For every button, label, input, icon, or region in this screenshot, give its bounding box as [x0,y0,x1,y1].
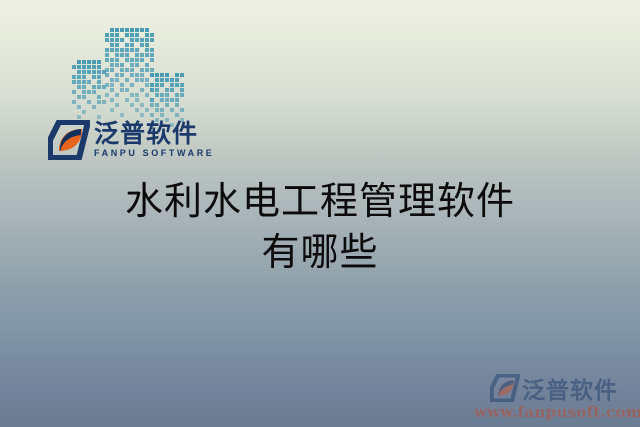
skyline-pixel [170,98,174,102]
skyline-pixel [110,58,114,62]
skyline-pixel [160,78,164,82]
skyline-pixel [87,60,91,64]
skyline-pixel [97,85,101,89]
skyline-pixel [145,63,149,67]
skyline-pixel [77,75,81,79]
skyline-pixel [125,28,129,32]
skyline-pixel [87,70,91,74]
skyline-pixel [110,83,114,87]
skyline-pixel [140,28,144,32]
skyline-pixel [105,73,109,77]
skyline-pixel [105,38,109,42]
skyline-pixel [155,93,159,97]
skyline-pixel [140,73,144,77]
skyline-pixel [175,93,179,97]
skyline-pixel [150,83,154,87]
skyline-pixel [97,70,101,74]
skyline-pixel [130,33,134,37]
logo-en-text: FANPU SOFTWARE [94,148,214,159]
skyline-pixel [130,48,134,52]
skyline-pixel [110,43,114,47]
skyline-pixel [77,65,81,69]
skyline-pixel [160,93,164,97]
skyline-pixel [155,78,159,82]
skyline-pixel [92,85,96,89]
skyline-pixel [130,58,134,62]
skyline-pixel [110,38,114,42]
skyline-pixel [135,58,139,62]
skyline-pixel [77,80,81,84]
logo-cn-text: 泛普软件 [94,121,214,147]
skyline-pixel [125,98,129,102]
skyline-pixel [135,53,139,57]
skyline-pixel [130,43,134,47]
skyline-pixel [160,73,164,77]
skyline-pixel [170,83,174,87]
skyline-pixel [125,48,129,52]
skyline-pixel [140,103,144,107]
skyline-pixel [72,75,76,79]
skyline-pixel [165,88,169,92]
skyline-pixel [130,38,134,42]
skyline-pixel [82,90,86,94]
skyline-pixel [92,60,96,64]
skyline-pixel [145,53,149,57]
skyline-pixel [145,33,149,37]
skyline-pixel [97,60,101,64]
skyline-pixel [115,28,119,32]
skyline-pixel [72,90,76,94]
skyline-pixel [140,88,144,92]
skyline-pixel [130,103,134,107]
skyline-pixel [110,68,114,72]
skyline-pixel [165,103,169,107]
skyline-pixel [130,68,134,72]
skyline-pixel [120,48,124,52]
skyline-pixel [115,103,119,107]
skyline-pixel [135,98,139,102]
skyline-pixel [150,38,154,42]
skyline-pixel [120,68,124,72]
skyline-pixel [97,95,101,99]
skyline-pixel [125,88,129,92]
skyline-pixel [125,53,129,57]
page-title-line-2: 有哪些 [0,227,640,278]
skyline-pixel [110,48,114,52]
skyline-pixel [102,100,106,104]
skyline-pixel [150,48,154,52]
page-title-line-1: 水利水电工程管理软件 [125,179,515,223]
skyline-pixel [150,98,154,102]
skyline-pixel [135,63,139,67]
skyline-pixel [110,78,114,82]
skyline-pixel [105,48,109,52]
logo-wordmark: 泛普软件 FANPU SOFTWARE [94,121,214,159]
skyline-pixel [175,78,179,82]
watermark-url: www.fanpusoft.com [474,403,634,421]
skyline-pixel [165,73,169,77]
skyline-pixel [140,78,144,82]
skyline-pixel [135,93,139,97]
skyline-pixel [82,75,86,79]
skyline-pixel [120,53,124,57]
skyline-pixel [175,83,179,87]
skyline-pixel [110,88,114,92]
skyline-pixel [145,28,149,32]
skyline-pixel [120,83,124,87]
skyline-pixel [145,48,149,52]
skyline-pixel [180,83,184,87]
skyline-pixel [180,93,184,97]
skyline-pixel [105,83,109,87]
skyline-pixel [135,108,139,112]
skyline-pixel [160,83,164,87]
page-title: 水利水电工程管理软件 有哪些 [0,176,640,277]
skyline-pixel [97,100,101,104]
watermark-logo: 泛普软件 [474,371,634,405]
fanpu-emblem-icon [48,120,90,160]
skyline-pixel [105,33,109,37]
skyline-pixel [120,28,124,32]
skyline-pixel [82,95,86,99]
skyline-pixel [110,63,114,67]
skyline-pixel [150,68,154,72]
skyline-pixel [160,108,164,112]
skyline-pixel [145,83,149,87]
skyline-pixel [87,80,91,84]
skyline-pixel [175,98,179,102]
skyline-pixel [115,38,119,42]
skyline-pixel [105,93,109,97]
skyline-pixel [180,108,184,112]
skyline-pixel [125,33,129,37]
skyline-pixel [97,65,101,69]
skyline-pixel [115,53,119,57]
skyline-pixel [175,73,179,77]
skyline-pixel [135,28,139,32]
skyline-pixel [140,68,144,72]
skyline-pixel [145,68,149,72]
skyline-pixel [92,65,96,69]
skyline-pixel [115,73,119,77]
skyline-pixel [125,58,129,62]
watermark-cn-text: 泛普软件 [522,371,618,405]
skyline-pixel [115,63,119,67]
skyline-pixel [140,58,144,62]
skyline-pixel [165,98,169,102]
skyline-pixel [115,58,119,62]
skyline-pixel [180,88,184,92]
skyline-pixel [72,100,76,104]
skyline-pixel [77,105,81,109]
skyline-pixel [120,73,124,77]
skyline-pixel [140,53,144,57]
skyline-pixel [130,73,134,77]
skyline-pixel [77,70,81,74]
skyline-pixel [92,105,96,109]
skyline-pixel [170,78,174,82]
skyline-pixel [110,28,114,32]
skyline-pixel [87,65,91,69]
skyline-pixel [72,80,76,84]
skyline-pixel [82,65,86,69]
skyline-pixel [87,90,91,94]
skyline-pixel [92,70,96,74]
skyline-pixel [97,80,101,84]
skyline-pixel [130,28,134,32]
skyline-pixel [105,53,109,57]
skyline-pixel [170,108,174,112]
skyline-pixel [180,73,184,77]
pixel-city-skyline-icon [72,28,184,118]
skyline-pixel [72,65,76,69]
skyline-pixel [165,78,169,82]
skyline-pixel [150,58,154,62]
skyline-pixel [155,73,159,77]
skyline-pixel [82,85,86,89]
skyline-pixel [105,58,109,62]
skyline-pixel [155,83,159,87]
skyline-pixel [135,48,139,52]
skyline-pixel [77,60,81,64]
skyline-pixel [150,53,154,57]
skyline-pixel [87,100,91,104]
skyline-pixel [97,75,101,79]
skyline-pixel [82,70,86,74]
watermark: 泛普软件 www.fanpusoft.com [474,371,634,421]
skyline-pixel [140,43,144,47]
skyline-pixel [135,73,139,77]
promo-banner: 泛普软件 FANPU SOFTWARE 水利水电工程管理软件 有哪些 泛普软件 … [0,0,640,427]
skyline-pixel [77,85,81,89]
skyline-pixel [120,88,124,92]
skyline-pixel [115,48,119,52]
skyline-pixel [82,110,86,114]
skyline-pixel [125,78,129,82]
skyline-pixel [150,103,154,107]
skyline-pixel [150,33,154,37]
brand-logo: 泛普软件 FANPU SOFTWARE [48,117,214,163]
skyline-pixel [130,63,134,67]
skyline-pixel [110,98,114,102]
skyline-pixel [115,43,119,47]
skyline-pixel [145,108,149,112]
skyline-pixel [92,75,96,79]
skyline-pixel [115,93,119,97]
skyline-pixel [115,78,119,82]
skyline-pixel [120,38,124,42]
skyline-pixel [110,33,114,37]
skyline-pixel [135,38,139,42]
skyline-pixel [150,88,154,92]
skyline-pixel [165,93,169,97]
skyline-pixel [155,103,159,107]
fanpu-emblem-watermark-icon [490,374,520,402]
skyline-pixel [120,63,124,67]
skyline-pixel [145,43,149,47]
skyline-pixel [140,38,144,42]
skyline-pixel [155,108,159,112]
skyline-pixel [92,90,96,94]
skyline-pixel [125,68,129,72]
skyline-pixel [135,33,139,37]
skyline-pixel [105,68,109,72]
skyline-pixel [145,93,149,97]
skyline-pixel [155,88,159,92]
skyline-pixel [145,78,149,82]
skyline-pixel [77,95,81,99]
skyline-pixel [82,80,86,84]
skyline-pixel [135,78,139,82]
skyline-pixel [170,88,174,92]
skyline-pixel [125,43,129,47]
skyline-pixel [150,73,154,77]
skyline-pixel [110,108,114,112]
skyline-pixel [160,98,164,102]
skyline-pixel [145,38,149,42]
skyline-pixel [115,33,119,37]
skyline-pixel [130,83,134,87]
skyline-pixel [82,60,86,64]
skyline-pixel [175,103,179,107]
skyline-pixel [130,93,134,97]
